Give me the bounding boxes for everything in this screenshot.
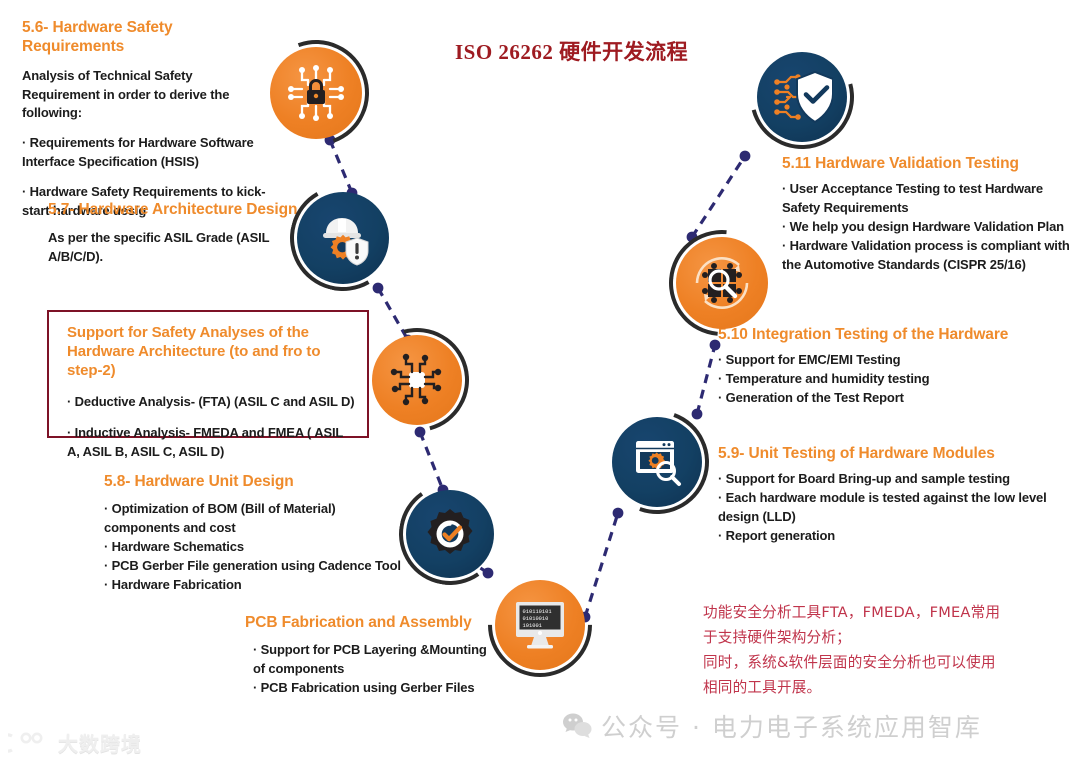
step-5-6-heading: 5.6- Hardware Safety Requirements <box>22 18 272 57</box>
wechat-watermark-text: 公众号 · 电力电子系统应用智库 <box>601 708 982 744</box>
step-5-9-bullet-2: · Each hardware module is tested against… <box>718 489 1048 527</box>
step-5-7-heading: 5.7- Hardware Architecture Design <box>48 200 298 219</box>
pcb-bullet-1: · Support for PCB Layering &Mounting of … <box>245 641 500 679</box>
page-title: ISO 26262 硬件开发流程 <box>455 36 688 66</box>
chinese-annotation-line-3: 同时，系统&软件层面的安全分析也可以使用 <box>703 650 1033 675</box>
step-5-7-block: 5.7- Hardware Architecture Design As per… <box>48 200 298 267</box>
callout-bullet-1: · Deductive Analysis- (FTA) (ASIL C and … <box>49 393 367 412</box>
chinese-annotation-line-1: 功能安全分析工具FTA，FMEDA，FMEA常用 <box>703 600 1033 625</box>
step-5-10-bullet-1: · Support for EMC/EMI Testing <box>718 351 1038 370</box>
check-badge-icon <box>422 506 478 562</box>
step-5-9-bullet-3: · Report generation <box>718 527 1048 546</box>
infographic-canvas: ISO 26262 硬件开发流程 5.6- Hardware Safety Re… <box>0 0 1080 763</box>
chip-circuit-icon <box>386 349 448 411</box>
node-step-5-11 <box>757 52 847 142</box>
step-5-6-block: 5.6- Hardware Safety Requirements Analys… <box>22 18 272 221</box>
step-5-10-bullet-2: · Temperature and humidity testing <box>718 370 1038 389</box>
step-5-8-block: 5.8- Hardware Unit Design · Optimization… <box>104 472 414 595</box>
step-5-6-bullet-1: · Requirements for Hardware Software Int… <box>22 134 272 172</box>
wechat-icon <box>562 713 592 739</box>
node-step-5-10 <box>676 237 768 329</box>
node-step-5-6 <box>270 47 362 139</box>
callout-bullet-2: · Inductive Analysis- FMEDA and FMEA ( A… <box>49 424 367 462</box>
callout-heading: Support for Safety Analyses of the Hardw… <box>49 312 367 380</box>
brand-logo-icon <box>8 732 52 754</box>
step-5-6-intro: Analysis of Technical Safety Requirement… <box>22 67 272 124</box>
step-5-11-bullet-2: · We help you design Hardware Validation… <box>782 218 1074 237</box>
step-5-10-block: 5.10 Integration Testing of the Hardware… <box>718 325 1038 408</box>
chinese-annotation-line-2: 于支持硬件架构分析； <box>703 625 1033 650</box>
svg-text:101001: 101001 <box>523 623 542 629</box>
chinese-annotation-line-4: 相同的工具开展。 <box>703 675 1033 700</box>
pcb-block: PCB Fabrication and Assembly · Support f… <box>245 613 500 698</box>
node-safety-analyses <box>372 335 462 425</box>
step-5-9-block: 5.9- Unit Testing of Hardware Modules · … <box>718 444 1048 546</box>
step-5-9-bullet-1: · Support for Board Bring-up and sample … <box>718 470 1048 489</box>
monitor-binary-icon: 010110101 01010010 101001 <box>510 596 570 654</box>
step-5-8-bullet-4: · Hardware Fabrication <box>104 576 414 595</box>
wechat-watermark: 公众号 · 电力电子系统应用智库 <box>562 708 982 744</box>
step-5-8-bullet-3: · PCB Gerber File generation using Caden… <box>104 557 414 576</box>
step-5-9-heading: 5.9- Unit Testing of Hardware Modules <box>718 444 1048 463</box>
helmet-gear-warning-icon <box>312 207 374 269</box>
pcb-bullet-2: · PCB Fabrication using Gerber Files <box>245 679 500 698</box>
step-5-8-bullet-2: · Hardware Schematics <box>104 538 414 557</box>
node-step-5-7 <box>297 192 389 284</box>
left-watermark: 大数跨境 <box>8 728 142 757</box>
step-5-8-bullet-1: · Optimization of BOM (Bill of Material)… <box>104 500 414 538</box>
chinese-annotation: 功能安全分析工具FTA，FMEDA，FMEA常用 于支持硬件架构分析； 同时，系… <box>703 600 1033 700</box>
step-5-11-block: 5.11 Hardware Validation Testing · User … <box>782 154 1074 275</box>
step-5-10-bullet-3: · Generation of the Test Report <box>718 389 1038 408</box>
svg-text:01010010: 01010010 <box>523 616 549 622</box>
node-pcb-fabrication: 010110101 01010010 101001 <box>495 580 585 670</box>
step-5-7-intro: As per the specific ASIL Grade (ASIL A/B… <box>48 229 298 267</box>
safety-analyses-callout: Support for Safety Analyses of the Hardw… <box>47 310 369 438</box>
pcb-heading: PCB Fabrication and Assembly <box>245 613 500 632</box>
step-5-11-heading: 5.11 Hardware Validation Testing <box>782 154 1074 173</box>
node-step-5-9 <box>612 417 702 507</box>
step-5-11-bullet-1: · User Acceptance Testing to test Hardwa… <box>782 180 1074 218</box>
step-5-11-bullet-3: · Hardware Validation process is complia… <box>782 237 1074 275</box>
lock-circuit-icon <box>284 61 348 125</box>
puzzle-search-icon <box>683 244 761 322</box>
step-5-8-heading: 5.8- Hardware Unit Design <box>104 472 414 491</box>
node-step-5-8 <box>406 490 494 578</box>
svg-text:010110101: 010110101 <box>523 609 552 615</box>
shield-check-circuit-icon <box>771 68 833 126</box>
left-watermark-text: 大数跨境 <box>58 728 142 757</box>
window-gear-search-icon <box>628 433 686 491</box>
step-5-10-heading: 5.10 Integration Testing of the Hardware <box>718 325 1038 344</box>
